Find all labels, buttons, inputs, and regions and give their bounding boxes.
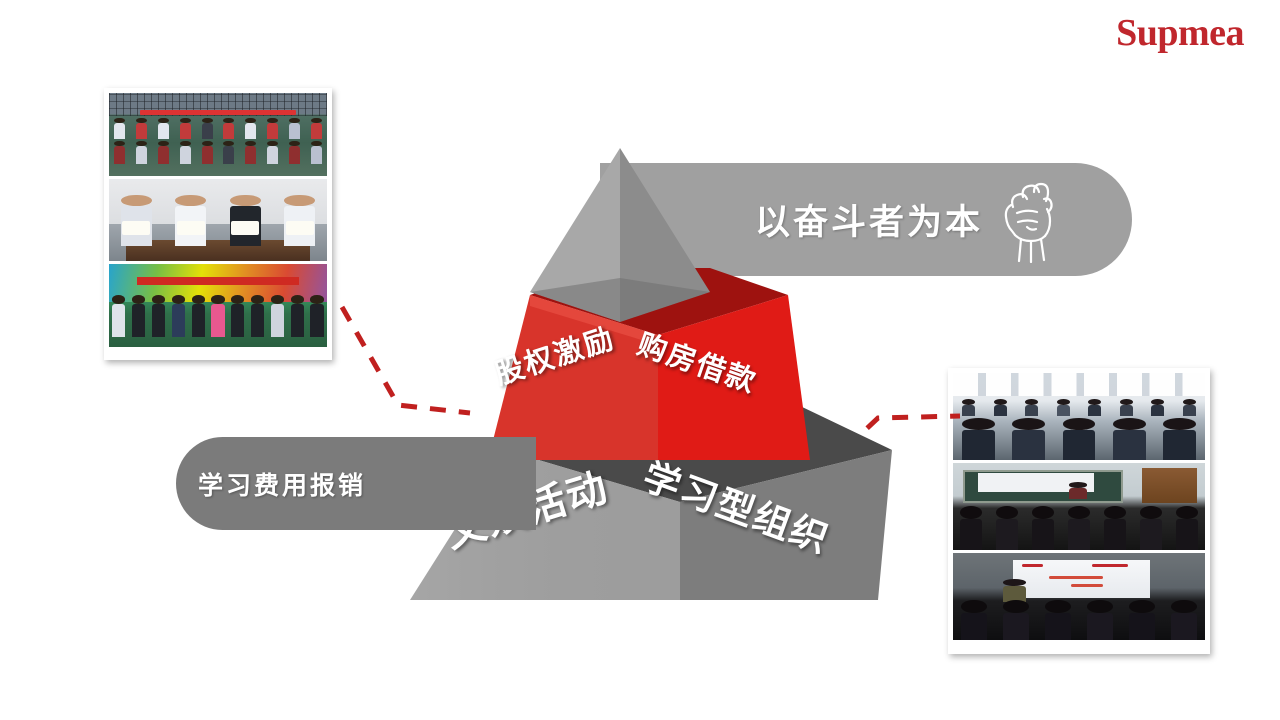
event-banner: [140, 110, 297, 116]
left-banner-label: 学习费用报销: [198, 466, 366, 502]
door: [1142, 468, 1197, 503]
ceiling-lights: [953, 373, 1205, 396]
raised-fist-icon: [1001, 177, 1057, 263]
activity-photo-collage[interactable]: [104, 88, 332, 360]
photo-lecture-hall[interactable]: [953, 463, 1205, 550]
photo-projector-session[interactable]: [953, 553, 1205, 640]
projection-screen: [1013, 560, 1149, 598]
training-photo-collage[interactable]: [948, 368, 1210, 654]
left-banner-pill[interactable]: 学习费用报销: [176, 437, 536, 530]
photo-sports-event[interactable]: [109, 264, 327, 347]
photo-hall-training[interactable]: [953, 373, 1205, 460]
brand-logo: Supmea: [1116, 14, 1244, 52]
photo-award-ceremony[interactable]: [109, 179, 327, 262]
event-banner: [137, 277, 298, 285]
photo-court-group[interactable]: [109, 93, 327, 176]
